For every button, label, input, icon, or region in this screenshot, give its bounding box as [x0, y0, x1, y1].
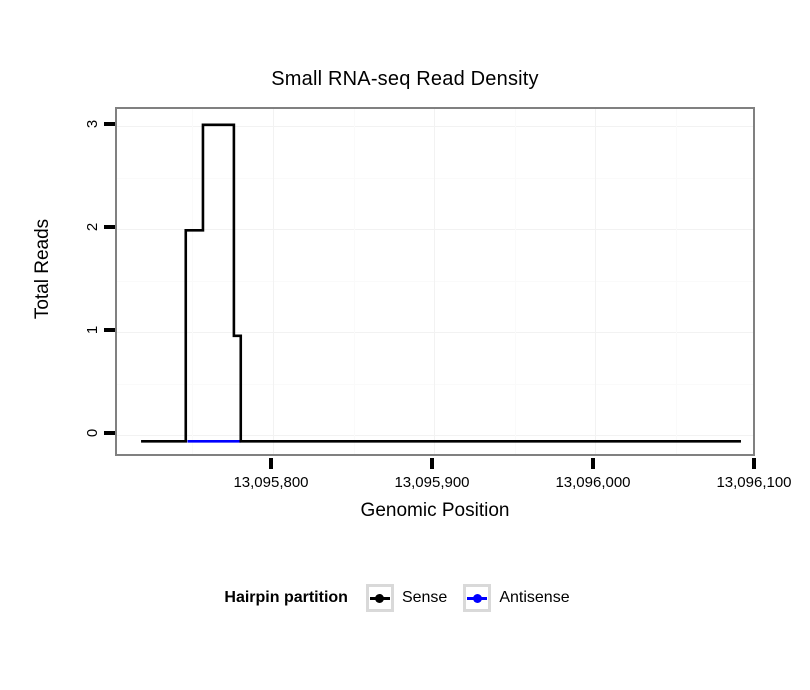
legend-key-sense [366, 584, 394, 612]
trace-sense [141, 125, 741, 442]
y-tick-label-0: 0 [86, 423, 100, 443]
legend-key-dot-sense [375, 594, 384, 603]
x-tick-mark-1 [430, 458, 434, 469]
legend-key-dot-antisense [473, 594, 482, 603]
legend-item-sense[interactable]: Sense [366, 584, 447, 612]
y-tick-label-2: 2 [86, 217, 100, 237]
legend-title: Hairpin partition [224, 589, 348, 607]
x-tick-label-2: 13,096,000 [528, 474, 658, 492]
x-tick-label-3: 13,096,100 [689, 474, 810, 492]
plot-panel [115, 107, 755, 456]
y-tick-mark-2 [104, 225, 115, 229]
x-tick-label-1: 13,095,900 [367, 474, 497, 492]
y-tick-mark-3 [104, 122, 115, 126]
data-traces [117, 109, 753, 454]
y-tick-mark-1 [104, 328, 115, 332]
legend: Hairpin partition Sense Antisense [0, 583, 810, 613]
legend-key-antisense [463, 584, 491, 612]
legend-label-antisense: Antisense [499, 589, 569, 607]
legend-label-sense: Sense [402, 589, 447, 607]
x-tick-mark-0 [269, 458, 273, 469]
x-tick-mark-2 [591, 458, 595, 469]
y-tick-label-3: 3 [86, 114, 100, 134]
plot-area [117, 109, 753, 454]
chart-figure: Small RNA-seq Read Density Total Reads 3… [0, 0, 810, 690]
x-axis-title: Genomic Position [115, 500, 755, 522]
legend-item-antisense[interactable]: Antisense [463, 584, 569, 612]
x-tick-mark-3 [752, 458, 756, 469]
y-tick-label-1: 1 [86, 320, 100, 340]
y-axis-title: Total Reads [32, 204, 54, 334]
x-tick-label-0: 13,095,800 [206, 474, 336, 492]
y-tick-mark-0 [104, 431, 115, 435]
chart-title: Small RNA-seq Read Density [0, 68, 810, 91]
